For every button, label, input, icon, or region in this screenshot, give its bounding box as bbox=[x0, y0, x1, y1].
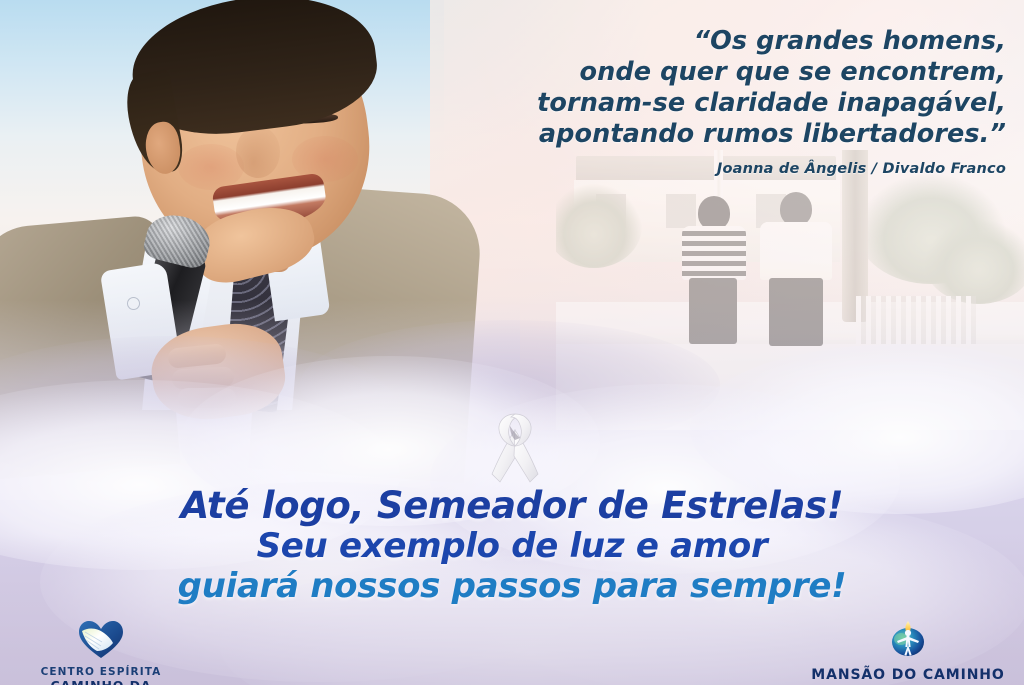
white-ribbon-icon bbox=[486, 412, 544, 484]
memorial-poster: “Os grandes homens, onde quer que se enc… bbox=[0, 0, 1024, 685]
logo-left-line-1: CENTRO ESPÍRITA bbox=[8, 666, 194, 678]
logo-centro-espirita: CENTRO ESPÍRITA CAMINHO DA REDENÇÃO bbox=[8, 620, 194, 685]
cheek-left bbox=[178, 144, 244, 190]
scene-window bbox=[666, 194, 696, 228]
logo-right-label: MANSÃO DO CAMINHO bbox=[798, 667, 1018, 683]
quote-line-4: apontando rumos libertadores.” bbox=[446, 119, 1006, 150]
logo-mansao-do-caminho: MANSÃO DO CAMINHO bbox=[798, 618, 1018, 683]
quote-attribution: Joanna de Ângelis / Divaldo Franco bbox=[446, 161, 1006, 177]
nose bbox=[236, 126, 280, 178]
quote-line-3: tornam-se claridade inapagável, bbox=[446, 88, 1006, 119]
headline-line-2: Seu exemplo de luz e amor bbox=[0, 526, 1024, 566]
quote-line-2: onde quer que se encontrem, bbox=[446, 57, 1006, 88]
headline-line-3: guiará nossos passos para sempre! bbox=[0, 566, 1024, 606]
quote-line-1: “Os grandes homens, bbox=[446, 26, 1006, 57]
logo-left-line-2: CAMINHO DA REDENÇÃO bbox=[8, 678, 194, 685]
heart-hand-icon bbox=[8, 620, 194, 664]
headline-line-1: Até logo, Semeador de Estrelas! bbox=[0, 486, 1024, 526]
farewell-headline: Até logo, Semeador de Estrelas! Seu exem… bbox=[0, 486, 1024, 606]
tribute-quote: “Os grandes homens, onde quer que se enc… bbox=[446, 26, 1006, 177]
scene-foliage bbox=[924, 220, 1024, 304]
globe-figure-icon bbox=[798, 618, 1018, 664]
